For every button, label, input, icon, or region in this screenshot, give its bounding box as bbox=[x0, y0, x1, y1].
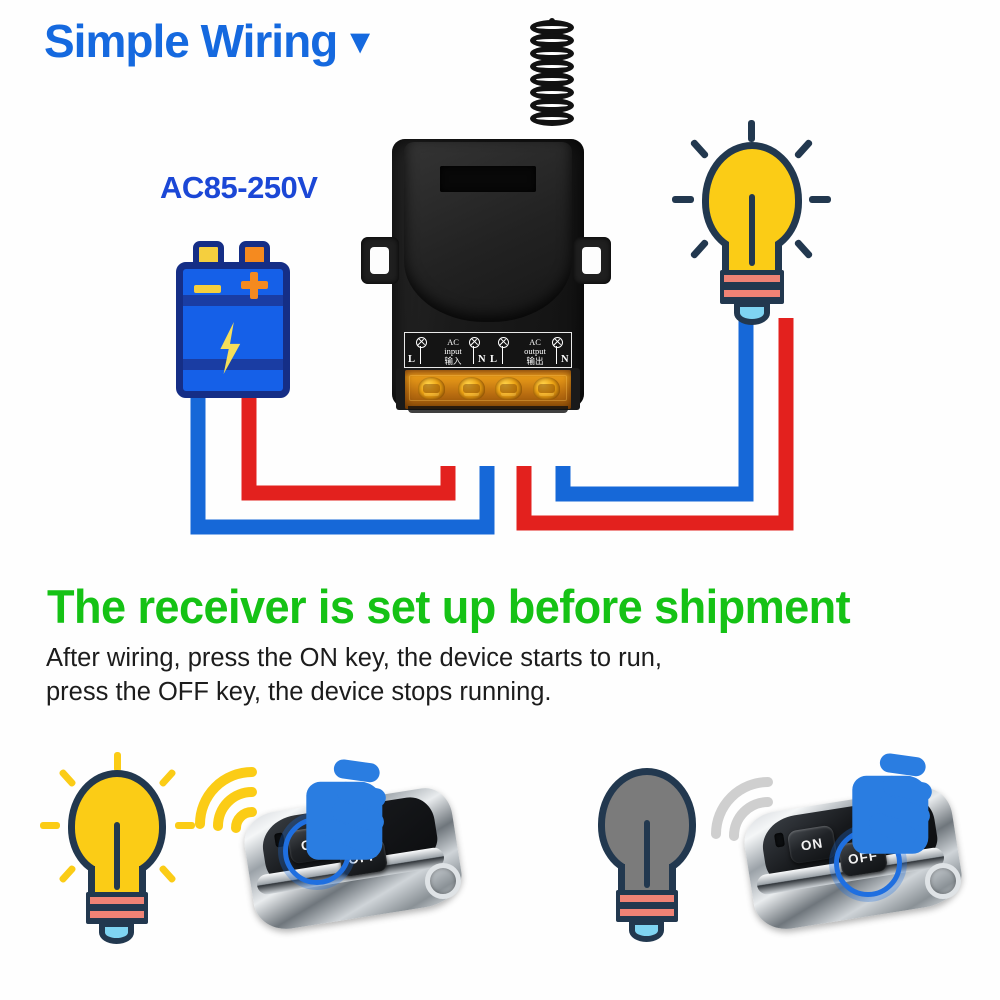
bulb-tip bbox=[99, 921, 134, 944]
terminal-screw-4 bbox=[533, 377, 560, 400]
bulb-tip bbox=[629, 919, 664, 942]
terminal-pin-input-n: N bbox=[478, 355, 486, 366]
battery-minus-icon bbox=[194, 285, 221, 293]
terminal-block bbox=[396, 368, 580, 410]
keyring-hole bbox=[425, 863, 461, 899]
green-headline: The receiver is set up before shipment bbox=[47, 579, 850, 634]
input-title-cn: 输入 bbox=[444, 356, 461, 366]
light-bulb-on-demo bbox=[38, 752, 198, 944]
antenna-coil-icon bbox=[523, 18, 583, 136]
mounting-tab-left bbox=[361, 237, 399, 284]
bulb-tip bbox=[734, 301, 770, 325]
light-bulb-off-demo bbox=[586, 762, 716, 944]
screw-icon bbox=[498, 337, 509, 348]
terminal-screw-2 bbox=[458, 377, 485, 400]
screw-icon bbox=[416, 337, 427, 348]
instruction-line-1: After wiring, press the ON key, the devi… bbox=[46, 641, 662, 675]
battery-body bbox=[176, 262, 290, 398]
terminal-screw-1 bbox=[418, 377, 445, 400]
screw-icon bbox=[552, 337, 563, 348]
terminal-label-plate: L AC input 输入 N L AC output 输出 N bbox=[404, 332, 572, 368]
terminal-screw-3 bbox=[495, 377, 522, 400]
instruction-line-2: press the OFF key, the device stops runn… bbox=[46, 675, 662, 709]
instruction-text: After wiring, press the ON key, the devi… bbox=[46, 641, 662, 709]
receiver-window bbox=[440, 166, 536, 192]
light-bulb-on bbox=[672, 120, 832, 325]
power-source-battery bbox=[170, 236, 296, 402]
terminal-pin-output-n: N bbox=[561, 355, 569, 366]
terminal-pin-input-l: L bbox=[408, 355, 415, 366]
screw-icon bbox=[469, 337, 480, 348]
output-title-cn: 输出 bbox=[526, 356, 543, 366]
receiver-module: L AC input 输入 N L AC output 输出 N bbox=[352, 128, 620, 408]
terminal-pin-output-l: L bbox=[490, 355, 497, 366]
mounting-tab-right bbox=[573, 237, 611, 284]
